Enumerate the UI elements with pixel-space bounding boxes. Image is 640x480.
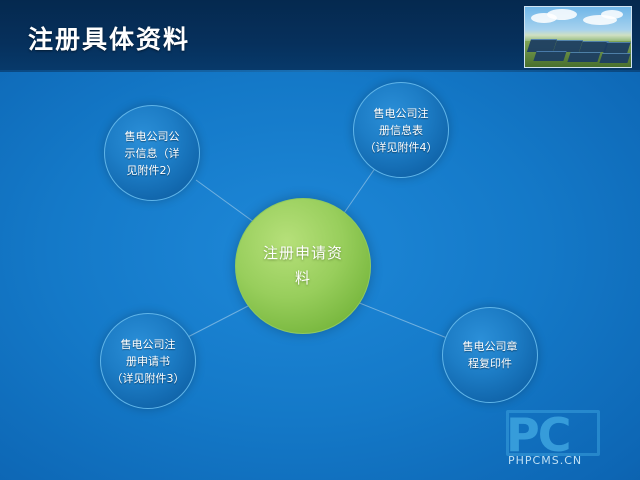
node-label: 注册申请资 料 <box>249 241 357 291</box>
watermark-domain: PHPCMS.CN <box>508 454 582 467</box>
diagram-node-bottom-left[interactable]: 售电公司注 册申请书 （详见附件3） <box>100 313 196 409</box>
node-label: 售电公司公 示信息（详 见附件2） <box>116 128 189 179</box>
diagram-node-top-right[interactable]: 售电公司注 册信息表 （详见附件4） <box>353 82 449 178</box>
diagram-node-top-left[interactable]: 售电公司公 示信息（详 见附件2） <box>104 105 200 201</box>
node-label: 售电公司章 程复印件 <box>454 338 527 372</box>
diagram-node-center[interactable]: 注册申请资 料 <box>235 198 371 334</box>
node-label: 售电公司注 册信息表 （详见附件4） <box>356 105 447 156</box>
node-label: 售电公司注 册申请书 （详见附件3） <box>103 336 194 387</box>
slide: 注册具体资料 注册申请资 料 售电公司公 示信息（详 见附件2） <box>0 0 640 480</box>
watermark: PC PHPCMS.CN <box>506 408 628 470</box>
diagram-node-bottom-right[interactable]: 售电公司章 程复印件 <box>442 307 538 403</box>
